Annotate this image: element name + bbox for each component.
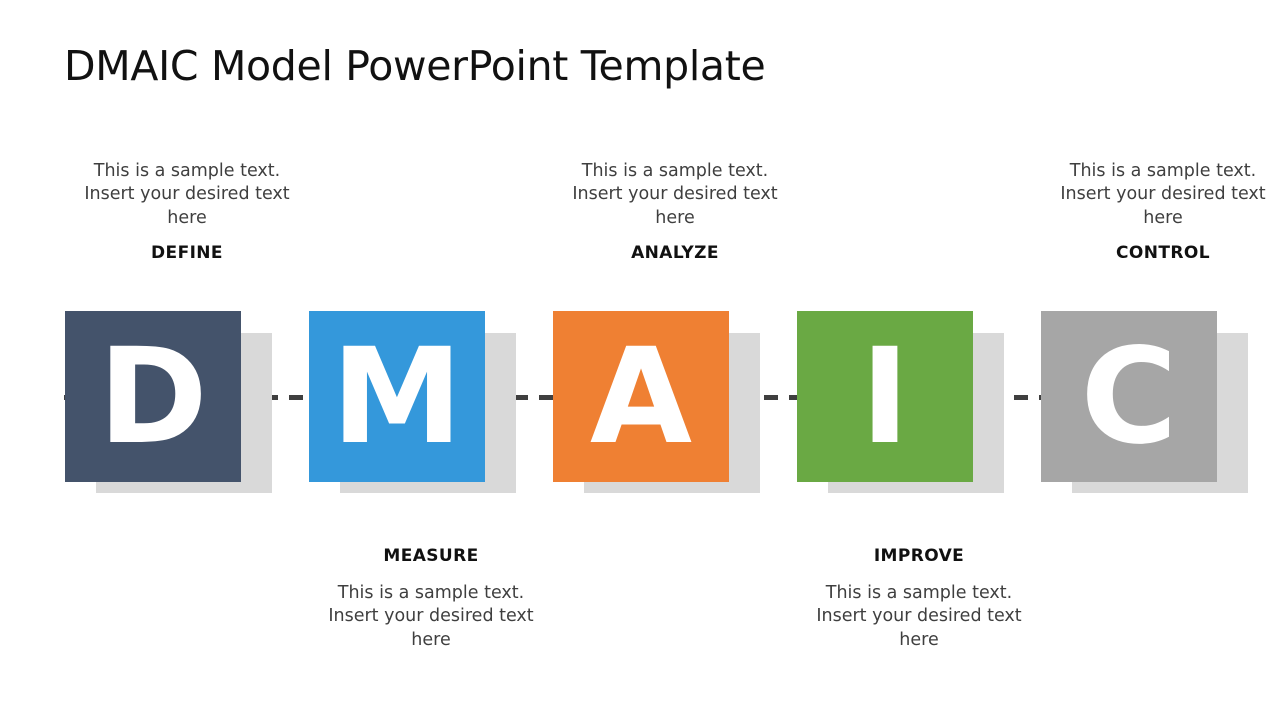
tile-define[interactable]: D bbox=[65, 311, 241, 482]
tile-letter-control: C bbox=[1081, 331, 1178, 463]
tile-letter-improve: I bbox=[860, 331, 909, 463]
step-description-measure: This is a sample text. Insert your desir… bbox=[323, 582, 539, 652]
step-analyze[interactable]: A This is a sample text. Insert your des… bbox=[552, 0, 798, 720]
tile-analyze[interactable]: A bbox=[553, 311, 729, 482]
step-improve[interactable]: I IMPROVE This is a sample text. Insert … bbox=[796, 0, 1042, 720]
tile-control[interactable]: C bbox=[1041, 311, 1217, 482]
tile-letter-analyze: A bbox=[590, 331, 692, 463]
step-description-define: This is a sample text. Insert your desir… bbox=[79, 160, 295, 230]
tile-letter-define: D bbox=[98, 331, 208, 463]
step-description-control: This is a sample text. Insert your desir… bbox=[1055, 160, 1271, 230]
tile-improve[interactable]: I bbox=[797, 311, 973, 482]
tile-letter-measure: M bbox=[331, 331, 462, 463]
step-label-improve: IMPROVE bbox=[796, 546, 1042, 566]
step-description-analyze: This is a sample text. Insert your desir… bbox=[567, 160, 783, 230]
step-label-analyze: ANALYZE bbox=[552, 243, 798, 263]
step-description-improve: This is a sample text. Insert your desir… bbox=[811, 582, 1027, 652]
step-label-control: CONTROL bbox=[1040, 243, 1280, 263]
step-label-measure: MEASURE bbox=[308, 546, 554, 566]
step-measure[interactable]: M MEASURE This is a sample text. Insert … bbox=[308, 0, 554, 720]
dmaic-diagram: D This is a sample text. Insert your des… bbox=[0, 0, 1280, 720]
step-label-define: DEFINE bbox=[64, 243, 310, 263]
step-define[interactable]: D This is a sample text. Insert your des… bbox=[64, 0, 310, 720]
tile-measure[interactable]: M bbox=[309, 311, 485, 482]
step-control[interactable]: C This is a sample text. Insert your des… bbox=[1040, 0, 1280, 720]
